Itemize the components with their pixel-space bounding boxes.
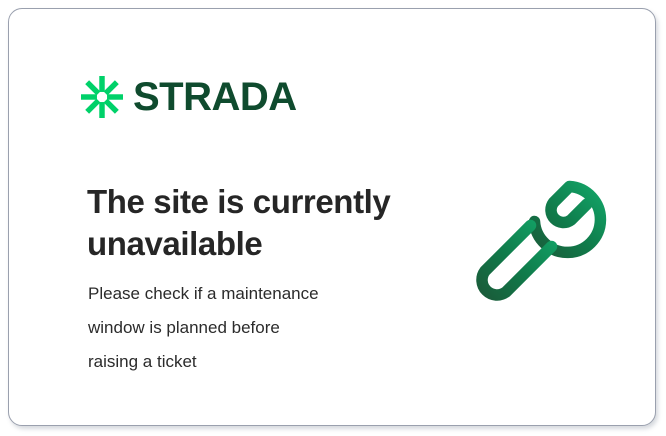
- description-line: Please check if a maintenance: [88, 277, 408, 311]
- page-title: The site is currently unavailable: [87, 181, 427, 264]
- brand-wordmark: STRADA: [133, 77, 297, 117]
- maintenance-card: STRADA The site is currently unavailable…: [8, 8, 656, 426]
- strada-mark: [81, 75, 123, 119]
- wrench-illustration: [461, 159, 621, 319]
- description-line: window is planned before: [88, 311, 408, 345]
- description-line: raising a ticket: [88, 345, 408, 379]
- brand-logo: STRADA: [81, 75, 297, 119]
- wrench-icon: [461, 159, 621, 319]
- asterisk-star-icon: [81, 75, 123, 119]
- maintenance-description: Please check if a maintenance window is …: [88, 277, 408, 379]
- error-page: STRADA The site is currently unavailable…: [0, 0, 666, 436]
